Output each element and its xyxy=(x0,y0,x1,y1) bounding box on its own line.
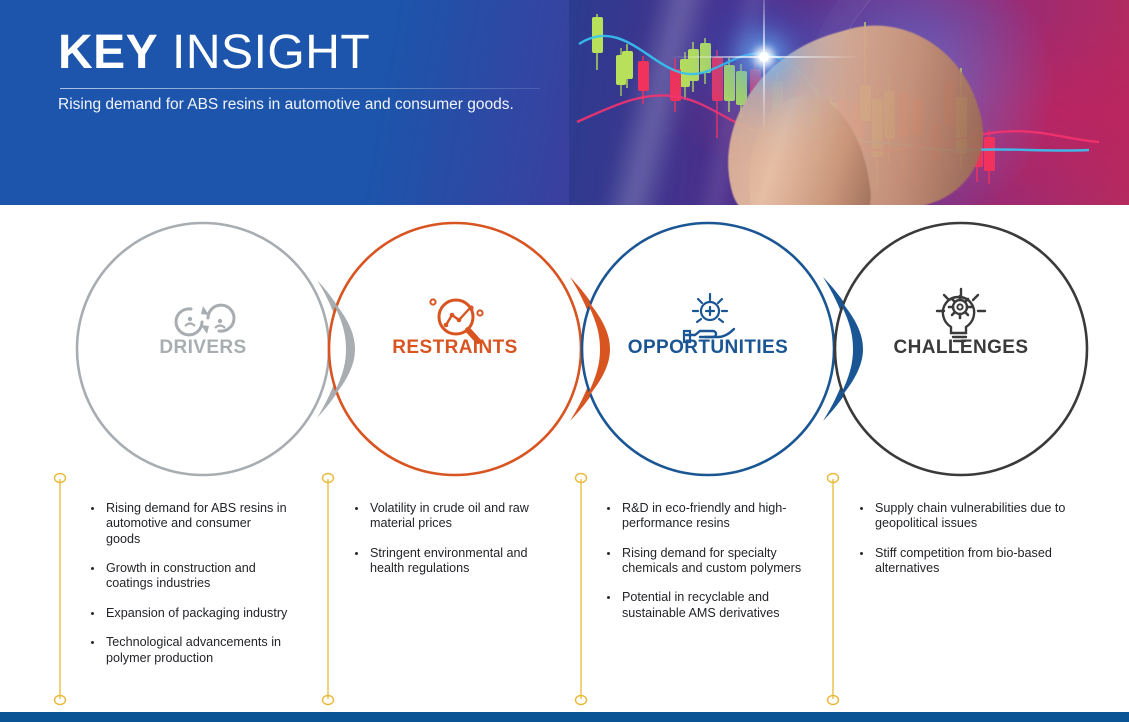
bullets-challenges: Supply chain vulnerabilities due to geop… xyxy=(857,501,1072,590)
glow-ray-vertical xyxy=(763,0,765,132)
list-item: Rising demand for specialty chemicals an… xyxy=(604,546,809,577)
title-light-word: INSIGHT xyxy=(172,26,370,79)
list-item: Potential in recyclable and sustainable … xyxy=(604,590,809,621)
title-divider-rule xyxy=(60,88,540,89)
list-item: Technological advancements in polymer pr… xyxy=(88,635,288,666)
list-item: Expansion of packaging industry xyxy=(88,606,288,621)
header-photo xyxy=(569,0,1129,205)
bullets-restraints: Volatility in crude oil and raw material… xyxy=(352,501,552,590)
list-item: Volatility in crude oil and raw material… xyxy=(352,501,552,532)
list-item: Supply chain vulnerabilities due to geop… xyxy=(857,501,1072,532)
list-item: Stiff competition from bio-based alterna… xyxy=(857,546,1072,577)
glow-ray-horizontal xyxy=(669,56,859,58)
list-item: R&D in eco-friendly and high-performance… xyxy=(604,501,809,532)
circle-label-drivers: DRIVERS xyxy=(103,337,303,359)
bullets-drivers: Rising demand for ABS resins in automoti… xyxy=(88,501,288,680)
bullets-opportunities: R&D in eco-friendly and high-performance… xyxy=(604,501,809,635)
list-item: Rising demand for ABS resins in automoti… xyxy=(88,501,288,547)
page-title: KEY INSIGHT xyxy=(58,28,370,78)
touch-glow-point xyxy=(759,52,769,62)
process-diagram: DRIVERS RESTRAINTS OPPORTUNITIES CHALLEN… xyxy=(0,205,1129,712)
infographic-root: KEY INSIGHT Rising demand for ABS resins… xyxy=(0,0,1129,722)
page-subtitle: Rising demand for ABS resins in automoti… xyxy=(58,96,514,114)
footer-bar xyxy=(0,712,1129,722)
header-banner: KEY INSIGHT Rising demand for ABS resins… xyxy=(0,0,1129,205)
circle-label-opportunities: OPPORTUNITIES xyxy=(598,337,818,359)
title-bold-word: KEY xyxy=(58,26,158,79)
circle-label-restraints: RESTRAINTS xyxy=(355,337,555,359)
circle-label-challenges: CHALLENGES xyxy=(861,337,1061,359)
list-item: Growth in construction and coatings indu… xyxy=(88,561,288,592)
list-item: Stringent environmental and health regul… xyxy=(352,546,552,577)
